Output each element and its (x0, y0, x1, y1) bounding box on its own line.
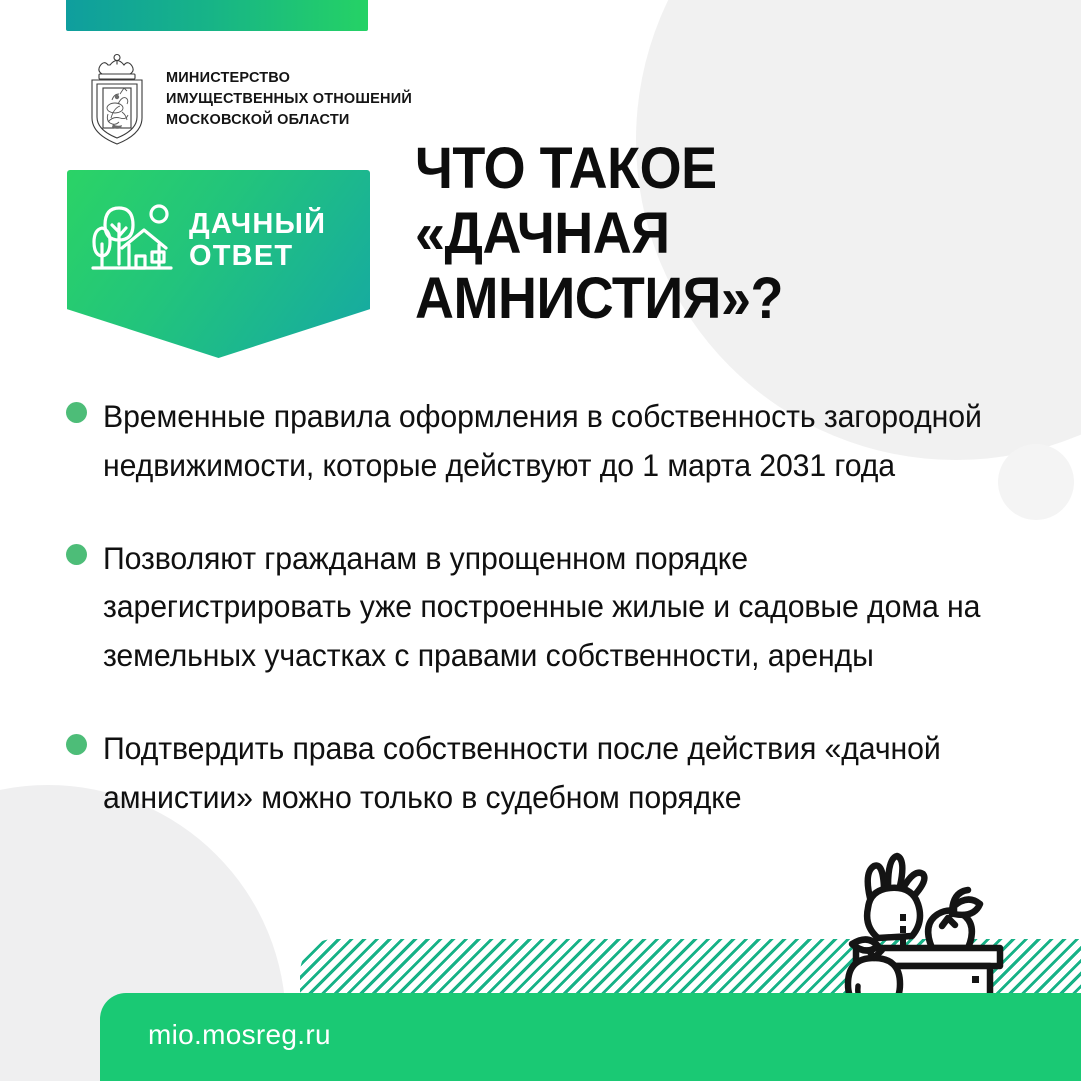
ministry-name: МИНИСТЕРСТВО ИМУЩЕСТВЕННЫХ ОТНОШЕНИЙ МОС… (166, 52, 412, 131)
bullet-text: Подтвердить права собственности после де… (103, 724, 989, 822)
bullet-dot-icon (66, 544, 87, 565)
ministry-header: МИНИСТЕРСТВО ИМУЩЕСТВЕННЫХ ОТНОШЕНИЙ МОС… (84, 52, 412, 146)
house-with-trees-icon (89, 200, 175, 280)
badge-label: ДАЧНЫЙ ОТВЕТ (189, 208, 326, 273)
bullet-list: Временные правила оформления в собственн… (66, 392, 1026, 866)
list-item: Подтвердить права собственности после де… (66, 724, 1026, 822)
list-item: Временные правила оформления в собственн… (66, 392, 1026, 490)
footer-bar: mio.mosreg.ru (100, 993, 1081, 1081)
top-gradient-bar (66, 0, 368, 31)
bullet-text: Позволяют гражданам в упрощенном порядке… (103, 534, 989, 680)
bullet-dot-icon (66, 402, 87, 423)
dachny-otvet-badge-content: ДАЧНЫЙ ОТВЕТ (67, 170, 370, 310)
bullet-text: Временные правила оформления в собственн… (103, 392, 989, 490)
infographic-canvas: МИНИСТЕРСТВО ИМУЩЕСТВЕННЫХ ОТНОШЕНИЙ МОС… (0, 0, 1081, 1081)
page-title: ЧТО ТАКОЕ «ДАЧНАЯ АМНИСТИЯ»? (415, 137, 973, 332)
bullet-dot-icon (66, 734, 87, 755)
website-url[interactable]: mio.mosreg.ru (148, 1019, 331, 1051)
coat-of-arms-icon (84, 52, 150, 146)
list-item: Позволяют гражданам в упрощенном порядке… (66, 534, 1026, 680)
